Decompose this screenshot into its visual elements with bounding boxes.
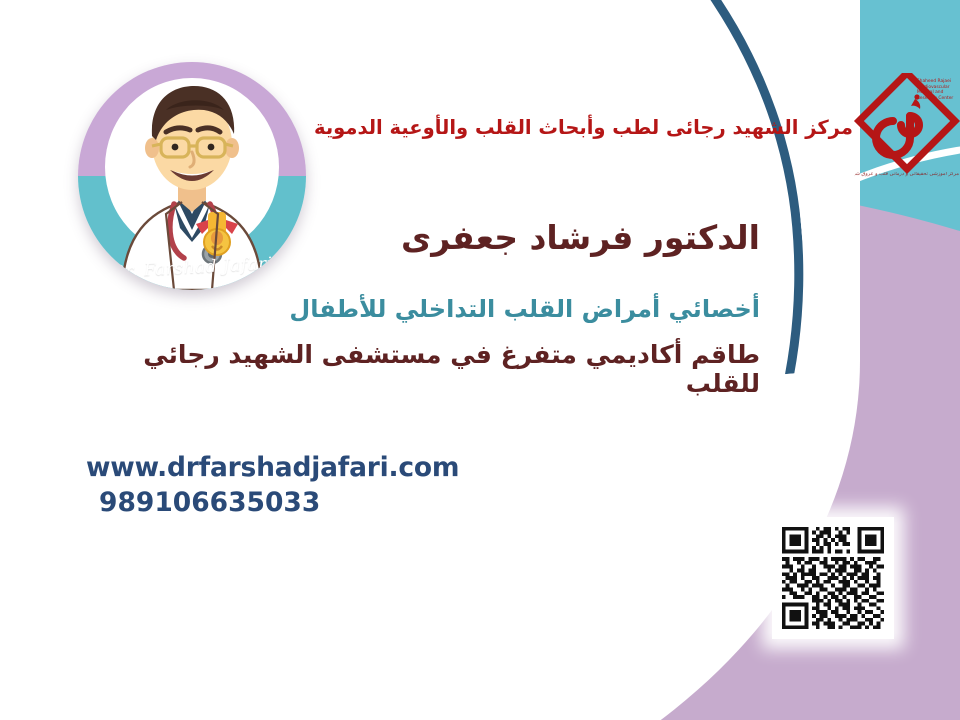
logo-english-text: Shaheed Rajaei Cardiovascular Medical an… xyxy=(917,79,960,101)
organization-name: مركز الشهيد رجائى لطب وأبحاث القلب والأو… xyxy=(314,116,853,139)
business-card: Shaheed Rajaei Cardiovascular Medical an… xyxy=(0,0,960,720)
doctor-affiliation: طاقم أكاديمي متفرغ في مستشفى الشهيد رجائ… xyxy=(80,340,760,398)
qr-code-icon xyxy=(778,523,888,633)
qr-code[interactable] xyxy=(772,517,894,639)
website-url[interactable]: www.drfarshadjafari.com xyxy=(86,452,459,483)
doctor-name: الدكتور فرشاد جعفرى xyxy=(200,218,760,257)
rajaei-center-logo: Shaheed Rajaei Cardiovascular Medical an… xyxy=(853,73,960,181)
card-header: Shaheed Rajaei Cardiovascular Medical an… xyxy=(300,72,860,182)
doctor-specialty: أخصائي أمراض القلب التداخلي للأطفال xyxy=(140,295,760,323)
logo-persian-caption: مرکز آموزشی تحقیقاتی و درمانی قلب و عروق… xyxy=(855,172,960,178)
contact-block: www.drfarshadjafari.com 989106635033 xyxy=(86,452,459,518)
phone-number[interactable]: 989106635033 xyxy=(99,487,459,518)
